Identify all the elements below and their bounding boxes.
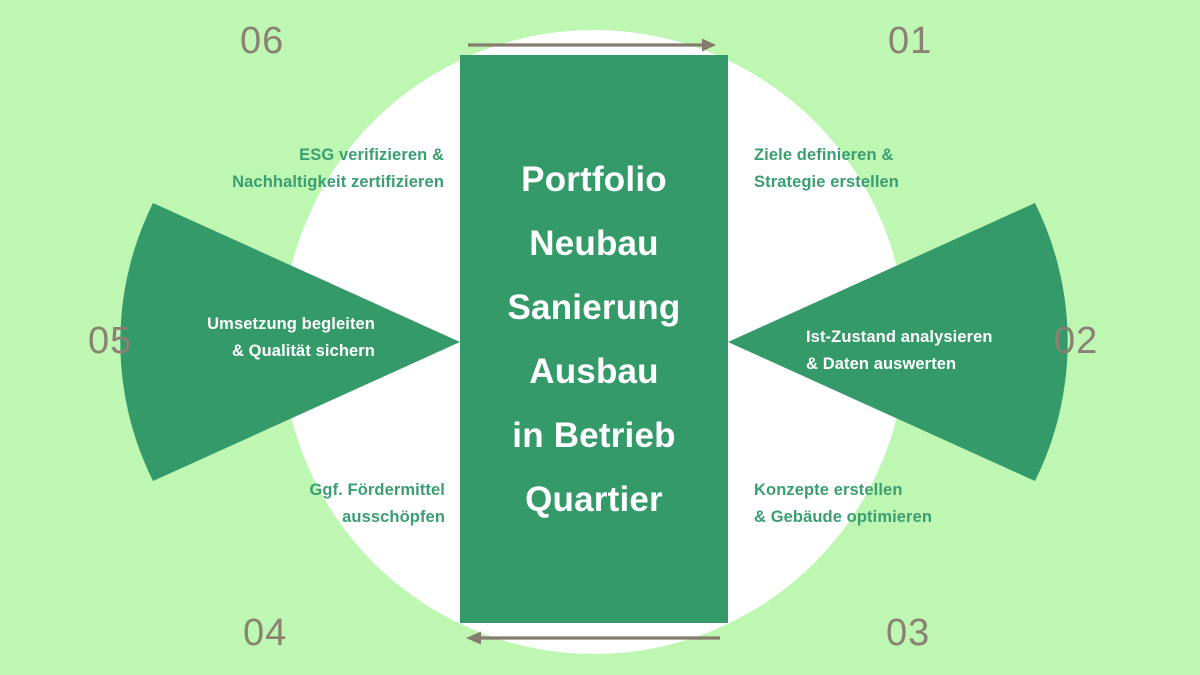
infographic-canvas: 06 01 02 03 04 05 Ziele definieren & Str… <box>0 0 1200 675</box>
step-number-01: 01 <box>888 22 932 60</box>
center-title-stack: Portfolio Neubau Sanierung Ausbau in Bet… <box>460 55 728 623</box>
center-line-in-betrieb: in Betrieb <box>512 403 675 467</box>
center-line-sanierung: Sanierung <box>508 275 681 339</box>
step-label-06: ESG verifizieren & Nachhaltigkeit zertif… <box>166 142 444 196</box>
step-label-02: Ist-Zustand analysieren & Daten auswerte… <box>806 324 1066 378</box>
step-number-05: 05 <box>88 322 132 360</box>
center-line-neubau: Neubau <box>529 211 659 275</box>
step-label-05: Umsetzung begleiten & Qualität sichern <box>130 311 375 365</box>
step-number-03: 03 <box>886 614 930 652</box>
step-number-04: 04 <box>243 614 287 652</box>
center-line-ausbau: Ausbau <box>529 339 659 403</box>
step-label-01: Ziele definieren & Strategie erstellen <box>754 142 1004 196</box>
step-label-04: Ggf. Fördermittel ausschöpfen <box>220 477 445 531</box>
center-line-portfolio: Portfolio <box>521 147 667 211</box>
step-number-06: 06 <box>240 22 284 60</box>
step-label-03: Konzepte erstellen & Gebäude optimieren <box>754 477 1024 531</box>
center-line-quartier: Quartier <box>525 467 663 531</box>
